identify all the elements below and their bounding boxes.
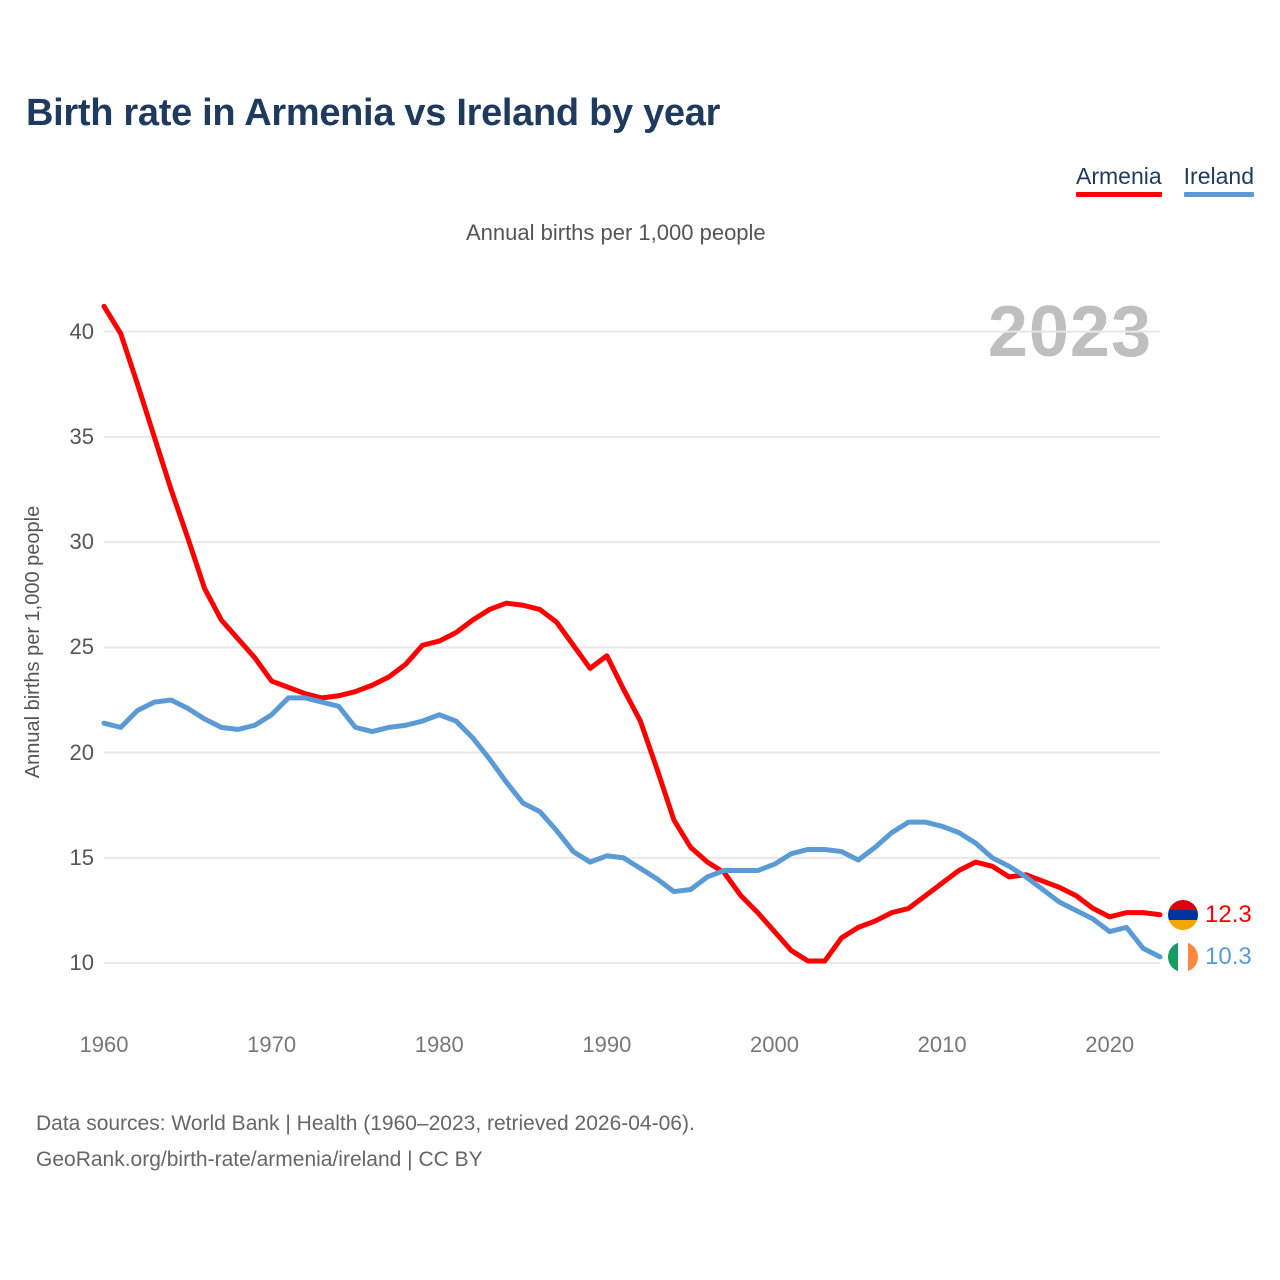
armenia-flag-icon: [1168, 900, 1198, 930]
series-lines: [104, 306, 1160, 961]
x-tick-label: 1960: [80, 1032, 129, 1058]
y-tick-label: 15: [70, 845, 104, 871]
plot-area: [0, 0, 1280, 1280]
end-value-ireland: 10.3: [1205, 943, 1252, 971]
end-value-armenia: 12.3: [1205, 901, 1252, 929]
end-label-armenia: 12.3: [1168, 900, 1252, 930]
x-tick-label: 1990: [582, 1032, 631, 1058]
y-tick-label: 25: [70, 634, 104, 660]
y-tick-label: 30: [70, 529, 104, 555]
gridlines: [104, 332, 1160, 964]
footer-credits: Data sources: World Bank | Health (1960–…: [36, 1106, 695, 1178]
x-tick-label: 2020: [1085, 1032, 1134, 1058]
x-tick-label: 2000: [750, 1032, 799, 1058]
x-tick-label: 2010: [918, 1032, 967, 1058]
footer-line-url: GeoRank.org/birth-rate/armenia/ireland |…: [36, 1142, 695, 1178]
x-tick-label: 1970: [247, 1032, 296, 1058]
y-tick-label: 10: [70, 950, 104, 976]
chart-container: Birth rate in Armenia vs Ireland by year…: [0, 0, 1280, 1280]
series-line-ireland: [104, 698, 1160, 957]
footer-line-sources: Data sources: World Bank | Health (1960–…: [36, 1106, 695, 1142]
x-tick-label: 1980: [415, 1032, 464, 1058]
y-tick-label: 35: [70, 424, 104, 450]
y-tick-label: 20: [70, 740, 104, 766]
y-tick-label: 40: [70, 319, 104, 345]
end-label-ireland: 10.3: [1168, 942, 1252, 972]
ireland-flag-icon: [1168, 942, 1198, 972]
